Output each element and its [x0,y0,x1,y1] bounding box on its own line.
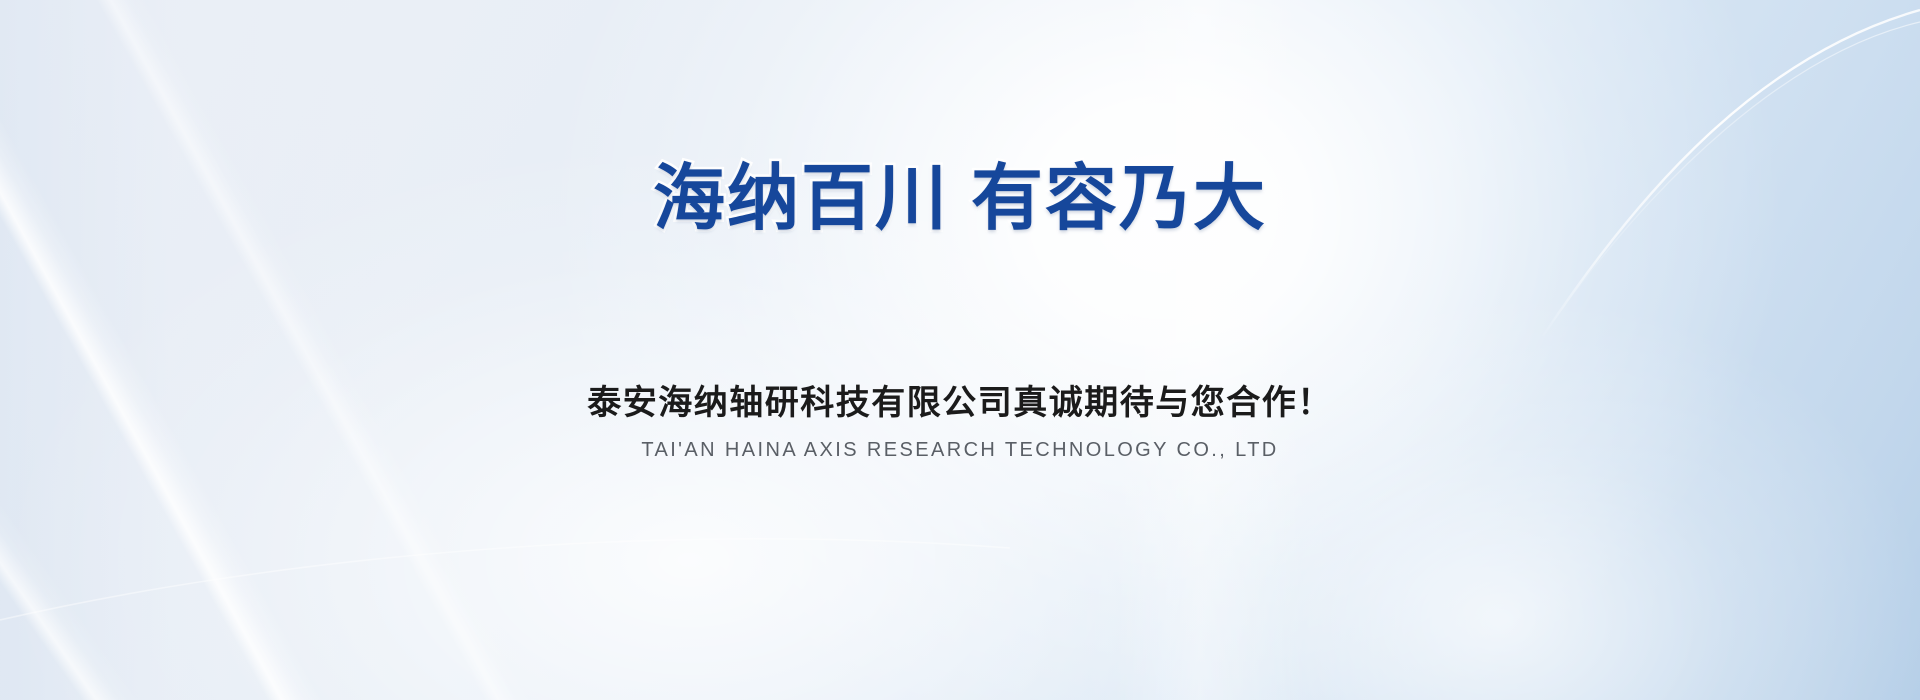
banner-subtitle-english: TAI'AN HAINA AXIS RESEARCH TECHNOLOGY CO… [0,437,1920,463]
hero-banner: 海纳百川 有容乃大 泰安海纳轴研科技有限公司真诚期待与您合作！ TAI'AN H… [0,0,1920,700]
background-arc-curve [0,0,1920,700]
banner-headline: 海纳百川 有容乃大 [0,163,1920,235]
banner-subtitle-chinese: 泰安海纳轴研科技有限公司真诚期待与您合作！ [0,382,1920,425]
